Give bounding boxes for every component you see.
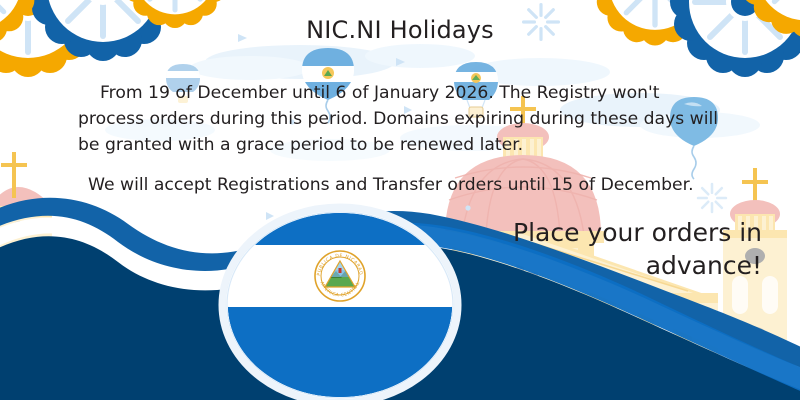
holiday-announcement-banner: REPUBLICA DE NICARAGUA AMERICA CENTRAL N… <box>0 0 800 400</box>
text-layer: NIC.NI Holidays From 19 of December unti… <box>0 0 800 400</box>
call-to-action-text: Place your orders in advance! <box>432 216 762 282</box>
holiday-period-paragraph: From 19 of December until 6 of January 2… <box>78 80 728 158</box>
page-title: NIC.NI Holidays <box>0 16 800 44</box>
order-deadline-paragraph: We will accept Registrations and Transfe… <box>78 172 738 198</box>
